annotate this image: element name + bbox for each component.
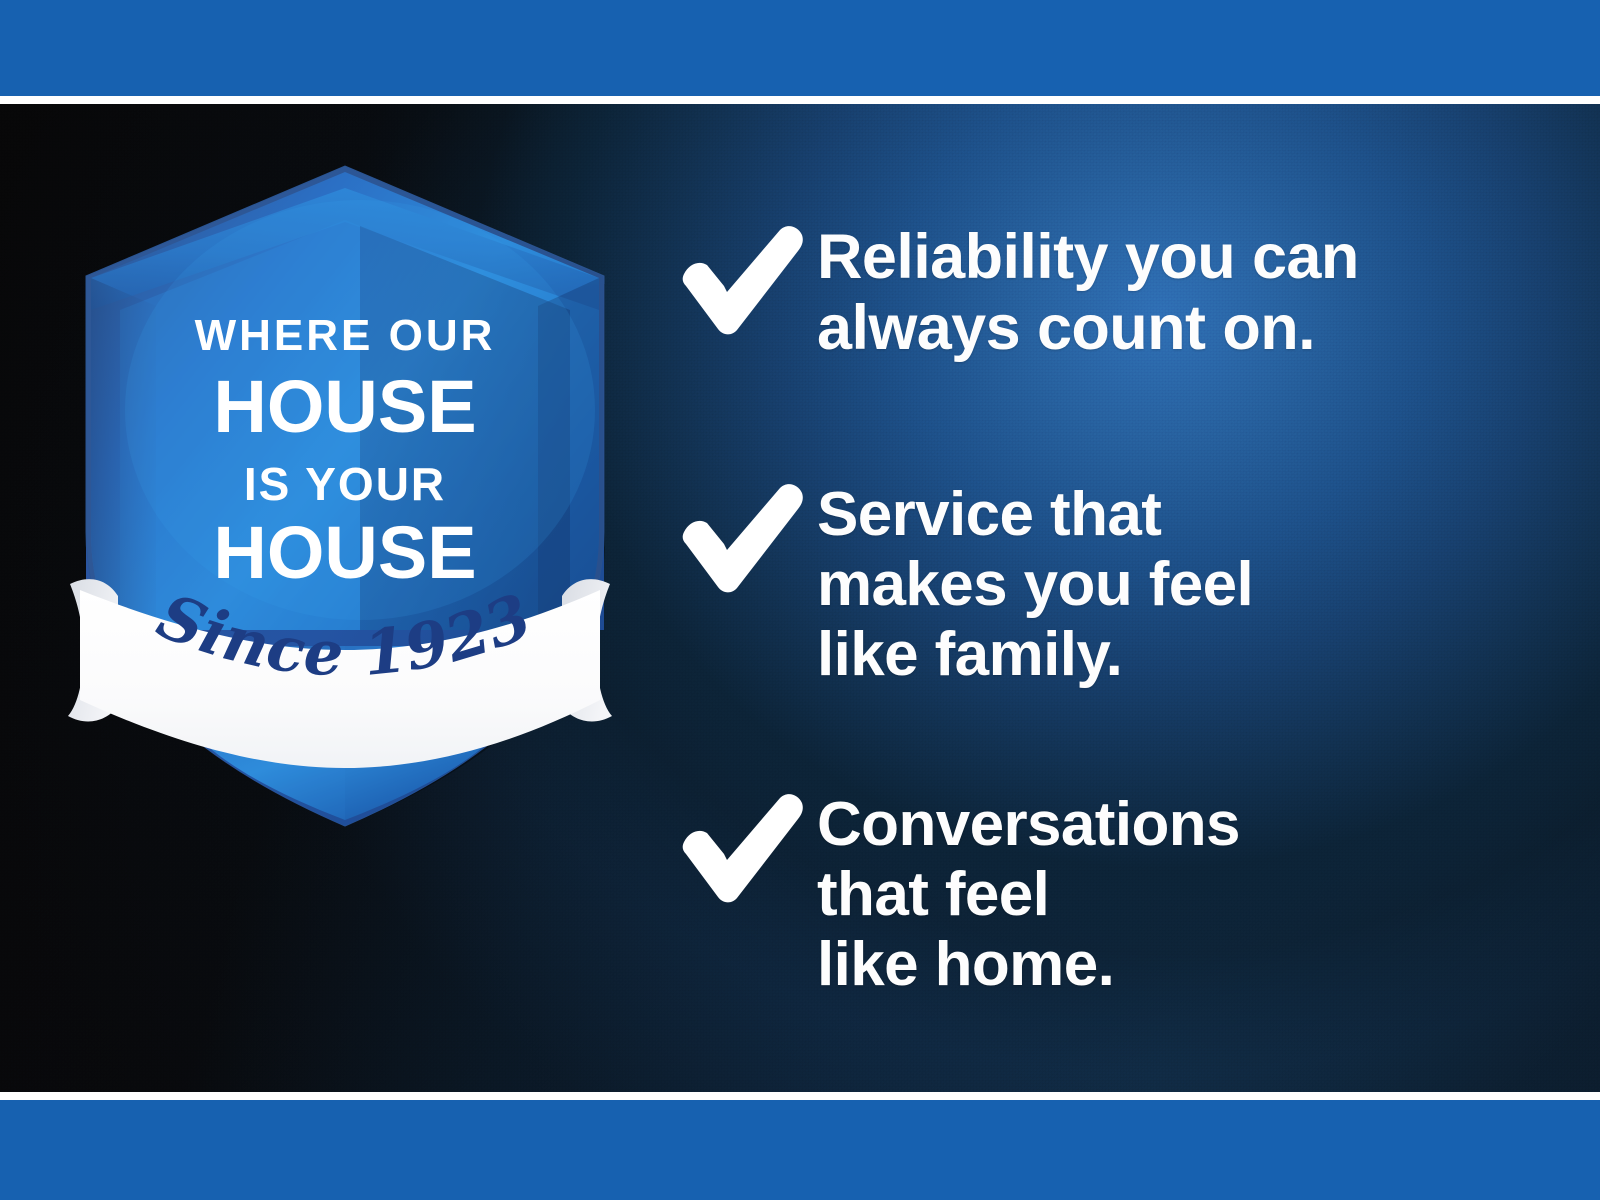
promo-graphic: WHERE OUR HOUSE IS YOUR HOUSE Since 1923: [0, 0, 1600, 1200]
badge-line-3: HOUSE: [213, 511, 476, 594]
check-icon: [665, 216, 817, 336]
bottom-divider: [0, 1092, 1600, 1100]
check-icon: [665, 474, 817, 594]
check-icon: [665, 784, 817, 904]
benefits-list: Reliability you can always count on. Ser…: [665, 104, 1565, 1092]
top-divider: [0, 96, 1600, 104]
top-brand-bar: [0, 0, 1600, 96]
benefit-text: Service that makes you feel like family.: [817, 474, 1253, 690]
bottom-brand-bar: [0, 1100, 1600, 1200]
shield-badge: WHERE OUR HOUSE IS YOUR HOUSE Since 1923: [60, 160, 620, 830]
benefit-item: Reliability you can always count on.: [665, 216, 1359, 364]
benefit-text: Conversations that feel like home.: [817, 784, 1240, 1000]
badge-line-1: HOUSE: [213, 365, 476, 448]
badge-line-0: WHERE OUR: [195, 311, 496, 360]
badge-line-2: IS YOUR: [244, 458, 446, 510]
benefit-item: Service that makes you feel like family.: [665, 474, 1253, 690]
benefit-item: Conversations that feel like home.: [665, 784, 1240, 1000]
benefit-text: Reliability you can always count on.: [817, 216, 1359, 364]
